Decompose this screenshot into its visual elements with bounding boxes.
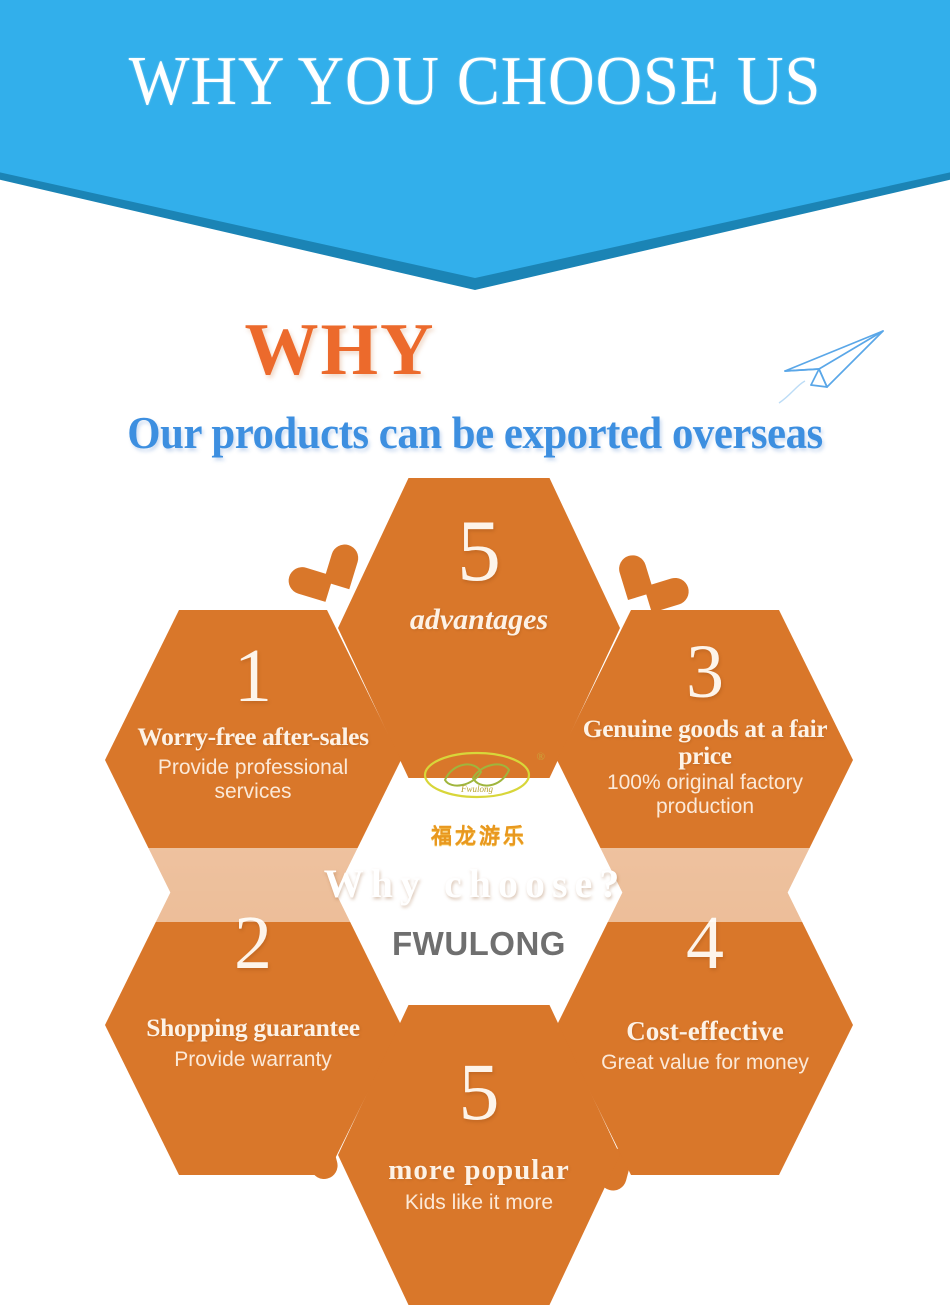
header-banner: WHY YOU CHOOSE US <box>0 0 950 300</box>
hexagon-subtitle: Kids like it more <box>405 1191 553 1215</box>
hexagon-number: 2 <box>234 905 272 981</box>
logo-chinese-name: 福龙游乐 <box>431 820 527 850</box>
hexagon-number: 1 <box>234 638 272 714</box>
hexagon-title: Worry-free after-sales <box>137 724 368 751</box>
heart-icon <box>606 542 678 613</box>
hexagon-title: more popular <box>388 1155 569 1185</box>
hexagon-title: Shopping guarantee <box>146 1015 360 1042</box>
hexagon-title: Cost-effective <box>626 1017 783 1045</box>
hexagon-number: 5 <box>457 508 501 596</box>
paper-plane-icon <box>775 325 895 405</box>
tagline-text: Our products can be exported overseas <box>33 406 917 459</box>
why-heading: WHY <box>0 308 680 393</box>
hexagon-subtitle: Provide warranty <box>174 1048 332 1072</box>
brand-name-en: FWULONG <box>338 925 620 963</box>
hexagon-number: 3 <box>686 634 724 710</box>
page-title: WHY YOU CHOOSE US <box>38 42 912 122</box>
fwulong-logo-mark: Fwulong ® <box>419 750 539 800</box>
honeycomb-diagram: 5 advantages 1 Worry-free after-sales Pr… <box>0 470 950 1270</box>
svg-text:Fwulong: Fwulong <box>460 784 494 794</box>
heart-icon <box>279 542 351 613</box>
hexagon-title: Genuine goods at a fair price <box>569 716 841 769</box>
hexagon-number: 5 <box>459 1051 500 1133</box>
registered-trademark-icon: ® <box>537 751 545 763</box>
hexagon-title: advantages <box>410 604 548 635</box>
hexagon-subtitle: Provide professional services <box>146 756 361 804</box>
hexagon-subtitle: 100% original factory production <box>589 771 821 819</box>
hexagon-number: 4 <box>686 905 724 981</box>
hexagon-subtitle: Great value for money <box>601 1051 809 1075</box>
company-logo: Fwulong ® 福龙游乐 <box>386 750 572 860</box>
